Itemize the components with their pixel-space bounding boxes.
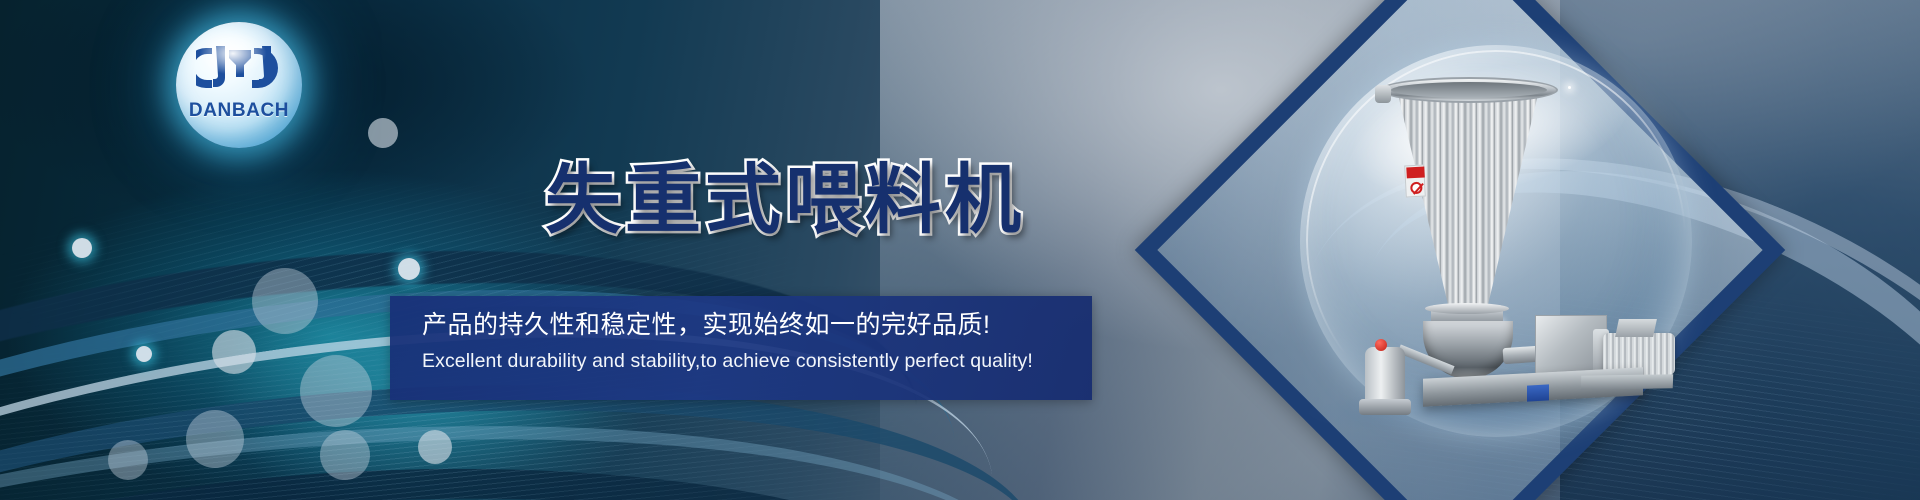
bubble-decor — [252, 268, 318, 334]
product-banner: DANBACH 失重式喂料机 产品的持久性和稳定性，实现始终如一的完好品质! E… — [0, 0, 1920, 500]
bubble-decor — [398, 258, 420, 280]
brand-logo-sphere: DANBACH — [176, 22, 302, 148]
tagline-english: Excellent durability and stability,to ac… — [422, 350, 1092, 373]
warning-label-band — [1406, 166, 1425, 178]
hopper-neck-ring — [1425, 303, 1509, 314]
danbach-emblem-icon — [196, 42, 282, 98]
tagline-box: 产品的持久性和稳定性，实现始终如一的完好品质! Excellent durabi… — [390, 296, 1092, 400]
loss-in-weight-feeder — [1335, 55, 1665, 410]
bubble-decor — [418, 430, 452, 464]
bubble-decor — [300, 355, 372, 427]
bubble-decor — [108, 440, 148, 480]
page-title: 失重式喂料机 — [545, 138, 1025, 248]
prohibition-sign-icon — [1410, 182, 1423, 195]
brand-wordmark: DANBACH — [176, 100, 302, 122]
bubble-decor — [186, 410, 244, 468]
product-showcase — [1100, 0, 1720, 500]
blue-terminal-block — [1527, 384, 1549, 401]
hopper-opening — [1391, 82, 1547, 98]
bubble-decor — [72, 238, 92, 258]
motor-terminal-box — [1615, 319, 1657, 337]
bubble-decor — [136, 346, 152, 362]
bubble-decor — [320, 430, 370, 480]
bubble-decor — [368, 118, 398, 148]
tagline-chinese: 产品的持久性和稳定性，实现始终如一的完好品质! — [422, 309, 1092, 343]
warning-label-icon — [1404, 164, 1426, 197]
discharge-bowl — [1423, 321, 1513, 379]
bubble-decor — [212, 330, 256, 374]
load-cell-leg — [1365, 347, 1405, 405]
stainless-cone-hopper — [1387, 89, 1549, 307]
hopper-clamp — [1375, 85, 1391, 103]
base-rail — [1581, 374, 1673, 390]
load-cell-foot — [1359, 399, 1411, 415]
red-indicator-cap — [1375, 339, 1387, 351]
